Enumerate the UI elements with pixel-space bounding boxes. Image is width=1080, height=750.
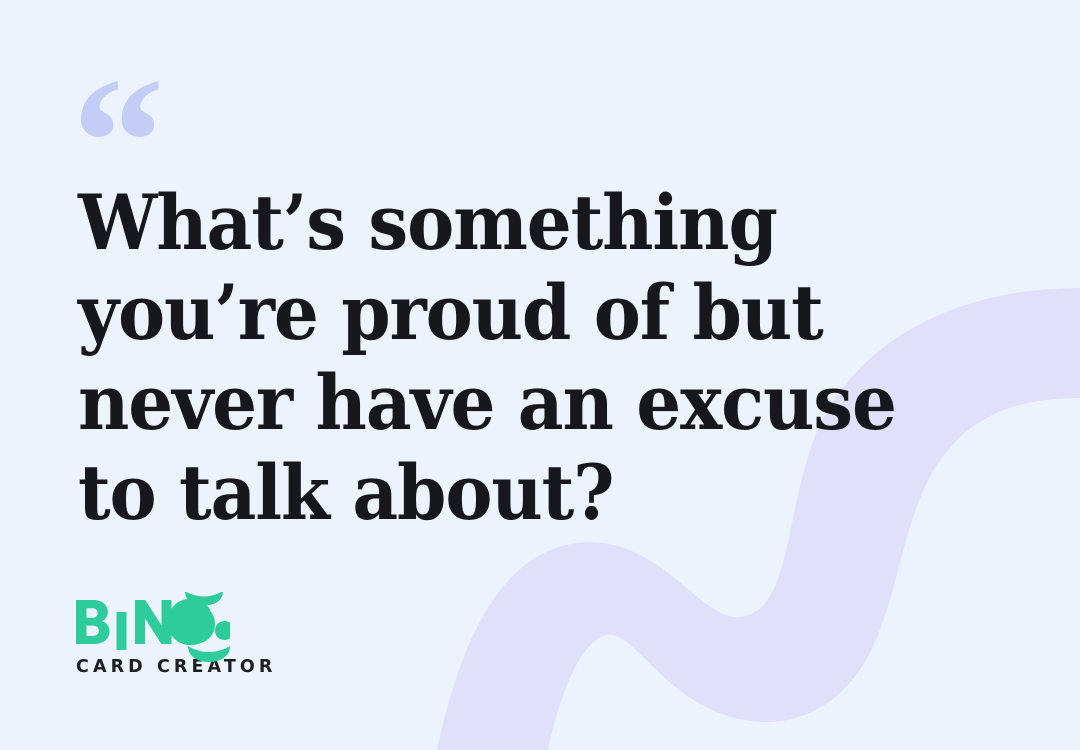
logo-tagline: CARD CREATOR — [76, 657, 276, 677]
bingo-logo-icon — [74, 592, 230, 650]
logo-o-ring — [175, 604, 230, 644]
quote-card: “ What’s something you’re proud of but n… — [0, 0, 1080, 750]
quote-prompt-text: What’s something you’re proud of but nev… — [78, 178, 934, 538]
brand-logo: CARD CREATOR — [74, 592, 276, 677]
logo-arc-bottom-wrap — [188, 646, 230, 662]
logo-arc-bottom — [188, 646, 230, 662]
